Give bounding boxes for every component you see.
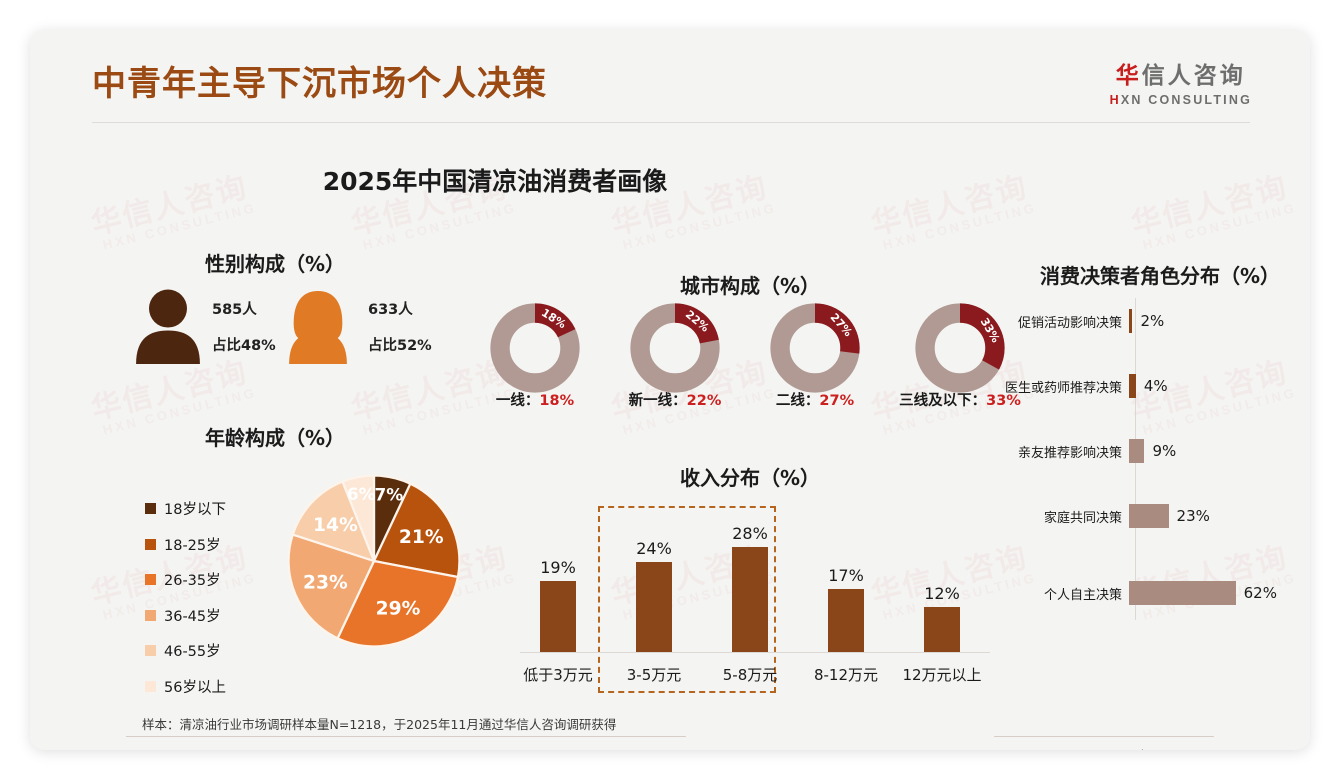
role-bar-value: 62% [1244,584,1277,602]
header-divider [92,122,1250,123]
income-bar-column: 24% [606,539,702,652]
role-bar-value: 9% [1152,442,1176,460]
age-legend-item: 36-45岁 [145,605,226,626]
age-legend-label: 36-45岁 [164,605,221,626]
pie-slice-label: 21% [399,527,444,548]
slide-header: 中青年主导下沉市场个人决策 华信人咨询 HXN CONSULTING [30,30,1310,122]
city-donut-item: 18%一线：18% [470,302,600,410]
pie-slice-label: 23% [303,572,348,593]
role-bar [1129,439,1144,463]
age-legend-item: 18岁以下 [145,498,226,519]
city-name: 一线： [496,393,540,409]
slide-canvas: 华信人咨询HXN CONSULTING华信人咨询HXN CONSULTING华信… [30,30,1310,750]
male-person-icon [130,288,206,364]
role-category-label: 亲友推荐影响决策 [1005,442,1129,461]
city-section-title: 城市构成（%） [470,270,1030,299]
role-category-label: 个人自主决策 [1005,584,1129,603]
role-bar [1129,504,1169,528]
age-legend-label: 46-55岁 [164,640,221,661]
role-bar-row: 个人自主决策62% [1005,580,1310,606]
pie-slice-label: 29% [376,598,421,619]
age-legend-label: 18-25岁 [164,534,221,555]
city-donut-item: 22%新一线：22% [610,302,740,410]
age-pie-chart: 7%21%29%23%14%6% [285,472,463,650]
role-bar-value: 2% [1140,312,1164,330]
role-bar-row: 家庭共同决策23% [1005,503,1310,529]
income-distribution-chart: 19%低于3万元24%3-5万元28%5-8万元17%8-12万元12%12万元… [480,500,1020,695]
income-bar-column: 19% [510,558,606,652]
city-donut-item: 27%二线：27% [750,302,880,410]
city-name: 二线： [776,393,820,409]
role-bar [1129,309,1132,333]
city-donut-caption: 新一线：22% [610,389,740,410]
male-count-label: 585人 [212,298,257,319]
income-bar-value: 28% [702,524,798,543]
income-category-label: 3-5万元 [601,664,707,685]
age-legend-label: 56岁以上 [164,676,226,697]
role-bar-row: 亲友推荐影响决策9% [1005,438,1310,464]
role-category-label: 促销活动影响决策 [1005,312,1129,331]
footer-divider-left [126,736,686,737]
income-bar-column: 17% [798,566,894,652]
footer-divider-right [994,736,1214,737]
income-bar-value: 19% [510,558,606,577]
legend-swatch-icon [145,503,156,514]
role-bar-row: 医生或药师推荐决策4% [1005,373,1310,399]
sample-note: 样本：清凉油行业市场调研样本量N=1218，于2025年11月通过华信人咨询调研… [142,714,616,733]
income-bar-value: 24% [606,539,702,558]
decision-role-chart: 促销活动影响决策2%医生或药师推荐决策4%亲友推荐影响决策9%家庭共同决策23%… [1005,298,1310,628]
website-link[interactable]: www.hxrcon.com [1107,747,1214,750]
gender-composition-chart: 585人 占比48% 633人 占比52% [90,248,460,378]
income-category-label: 低于3万元 [505,664,611,685]
female-share-label: 占比52% [368,334,432,355]
age-legend-item: 26-35岁 [145,569,226,590]
city-name: 三线及以下： [899,393,986,409]
income-category-label: 5-8万元 [697,664,803,685]
city-donut-chart: 22% [629,302,721,394]
role-bar [1129,374,1136,398]
city-value: 22% [687,393,722,409]
roles-section-title: 消费决策者角色分布（%） [1005,260,1310,289]
logo-english-text: HXN CONSULTING [1110,93,1252,107]
income-bar [924,607,960,652]
copyright-text: ©2026.1 HXR华信人咨询 [126,747,275,750]
age-section-title: 年龄构成（%） [90,422,460,451]
page-title: 中青年主导下沉市场个人决策 [92,56,547,105]
age-legend-label: 18岁以下 [164,498,226,519]
income-bar [828,589,864,652]
role-bar-value: 23% [1177,507,1210,525]
chart-group-title: 2025年中国清凉油消费者画像 [30,162,960,198]
income-category-label: 12万元以上 [889,664,995,685]
income-bar-value: 17% [798,566,894,585]
income-category-label: 8-12万元 [793,664,899,685]
age-legend-item: 46-55岁 [145,640,226,661]
role-bar-row: 促销活动影响决策2% [1005,308,1310,334]
pie-slice-label: 6% [347,484,376,504]
city-value: 18% [539,393,574,409]
legend-swatch-icon [145,539,156,550]
legend-swatch-icon [145,574,156,585]
income-bar [540,581,576,652]
city-donut-chart: 33% [914,302,1006,394]
age-legend-item: 56岁以上 [145,676,226,697]
pie-slice-label: 7% [375,485,404,505]
logo-en-rest: XN CONSULTING [1121,93,1252,107]
income-bar-value: 12% [894,584,990,603]
logo-cn-red-char: 华 [1116,63,1142,89]
watermark: 华信人咨询HXN CONSULTING [1126,161,1298,254]
logo-chinese-text: 华信人咨询 [1110,56,1252,90]
age-legend-label: 26-35岁 [164,569,221,590]
city-composition-chart: 18%一线：18%22%新一线：22%27%二线：27%33%三线及以下：33% [470,302,1030,417]
income-bar [732,547,768,652]
income-baseline-axis [520,652,990,653]
income-bar-column: 28% [702,524,798,652]
income-bar [636,562,672,652]
age-legend-item: 18-25岁 [145,534,226,555]
role-bar-value: 4% [1144,377,1168,395]
legend-swatch-icon [145,645,156,656]
role-category-label: 家庭共同决策 [1005,507,1129,526]
income-section-title: 收入分布（%） [470,462,1030,491]
income-bar-column: 12% [894,584,990,652]
city-donut-chart: 27% [769,302,861,394]
age-composition-chart: 18岁以下18-25岁26-35岁36-45岁46-55岁56岁以上 7%21%… [90,460,470,680]
age-legend: 18岁以下18-25岁26-35岁36-45岁46-55岁56岁以上 [145,498,226,711]
city-value: 27% [819,393,854,409]
role-category-label: 医生或药师推荐决策 [1005,377,1129,396]
logo-cn-rest: 信人咨询 [1142,63,1246,89]
pie-slice-label: 14% [313,515,358,536]
legend-swatch-icon [145,681,156,692]
city-donut-chart: 18% [489,302,581,394]
city-name: 新一线： [629,393,687,409]
female-person-icon [280,288,356,364]
female-count-label: 633人 [368,298,413,319]
male-share-label: 占比48% [212,334,276,355]
company-logo: 华信人咨询 HXN CONSULTING [1110,56,1252,107]
legend-swatch-icon [145,610,156,621]
role-bar [1129,581,1236,605]
logo-en-red-char: H [1110,93,1121,107]
